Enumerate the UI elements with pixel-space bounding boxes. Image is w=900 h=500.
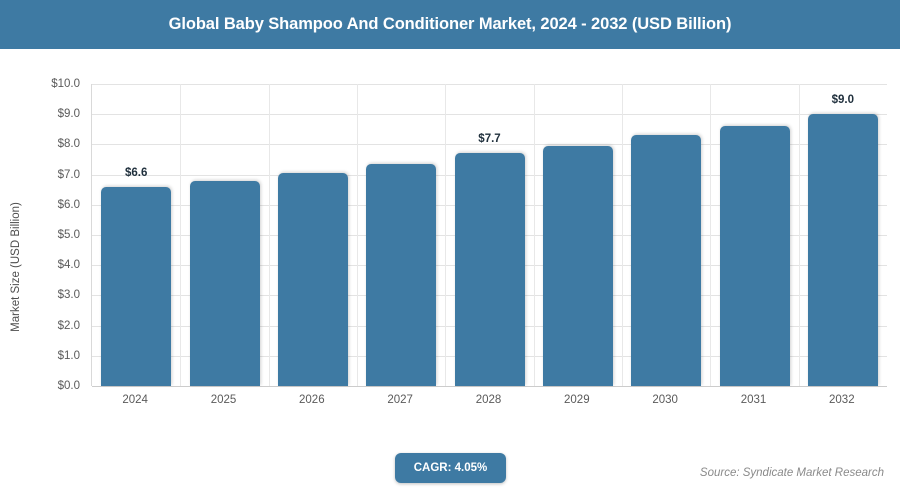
chart-body: Market Size (USD Billion) $0.0$1.0$2.0$3…	[0, 49, 900, 500]
bar[interactable]	[101, 187, 171, 386]
bar-value-label: $9.0	[832, 94, 854, 106]
bar-slot: $7.7	[455, 84, 525, 386]
y-axis-tick-label: $7.0	[58, 169, 80, 181]
bar[interactable]	[543, 146, 613, 386]
bar-value-label: $7.7	[478, 133, 500, 145]
source-note: Source: Syndicate Market Research	[700, 467, 884, 479]
bar-slot: $6.6	[101, 84, 171, 386]
x-axis-ticks: 202420252026202720282029203020312032	[91, 394, 886, 416]
plot-area: $6.6$7.7$9.0	[91, 84, 886, 386]
bar[interactable]	[366, 164, 436, 386]
bar-slot	[631, 84, 701, 386]
bar[interactable]	[190, 181, 260, 386]
bar-series: $6.6$7.7$9.0	[92, 84, 887, 386]
cagr-badge-label: CAGR: 4.05%	[414, 462, 488, 474]
x-axis-tick-label: 2032	[798, 394, 886, 406]
y-axis-tick-label: $5.0	[58, 229, 80, 241]
bar-slot	[278, 84, 348, 386]
chart-header: Global Baby Shampoo And Conditioner Mark…	[0, 0, 900, 49]
bar-slot: $9.0	[808, 84, 878, 386]
chart-page: Global Baby Shampoo And Conditioner Mark…	[0, 0, 900, 500]
y-axis-tick-label: $9.0	[58, 108, 80, 120]
x-axis-tick-label: 2031	[709, 394, 797, 406]
x-axis-tick-label: 2026	[268, 394, 356, 406]
y-axis-tick-label: $3.0	[58, 289, 80, 301]
bar[interactable]	[631, 135, 701, 386]
y-axis-ticks: $0.0$1.0$2.0$3.0$4.0$5.0$6.0$7.0$8.0$9.0…	[28, 69, 86, 389]
y-axis-tick-label: $1.0	[58, 350, 80, 362]
x-axis-tick-label: 2030	[621, 394, 709, 406]
bar[interactable]	[720, 126, 790, 386]
bar[interactable]	[278, 173, 348, 386]
y-axis-tick-label: $4.0	[58, 259, 80, 271]
x-axis-tick-label: 2028	[444, 394, 532, 406]
x-axis-tick-label: 2027	[356, 394, 444, 406]
y-axis-tick-label: $8.0	[58, 138, 80, 150]
page-title: Global Baby Shampoo And Conditioner Mark…	[169, 15, 732, 34]
y-axis-tick-label: $0.0	[58, 380, 80, 392]
x-axis-tick-label: 2024	[91, 394, 179, 406]
bar-slot	[190, 84, 260, 386]
y-axis-tick-label: $10.0	[51, 78, 80, 90]
bar[interactable]	[808, 114, 878, 386]
bar-slot	[543, 84, 613, 386]
cagr-badge: CAGR: 4.05%	[395, 453, 506, 483]
x-axis-tick-label: 2025	[179, 394, 267, 406]
y-axis-title: Market Size (USD Billion)	[4, 98, 28, 435]
y-axis-tick-label: $6.0	[58, 199, 80, 211]
bar[interactable]	[455, 153, 525, 386]
bar-slot	[720, 84, 790, 386]
bar-value-label: $6.6	[125, 167, 147, 179]
bar-slot	[366, 84, 436, 386]
y-axis-tick-label: $2.0	[58, 320, 80, 332]
x-axis-tick-label: 2029	[533, 394, 621, 406]
gridline	[92, 386, 887, 387]
y-axis-title-label: Market Size (USD Billion)	[10, 202, 22, 332]
